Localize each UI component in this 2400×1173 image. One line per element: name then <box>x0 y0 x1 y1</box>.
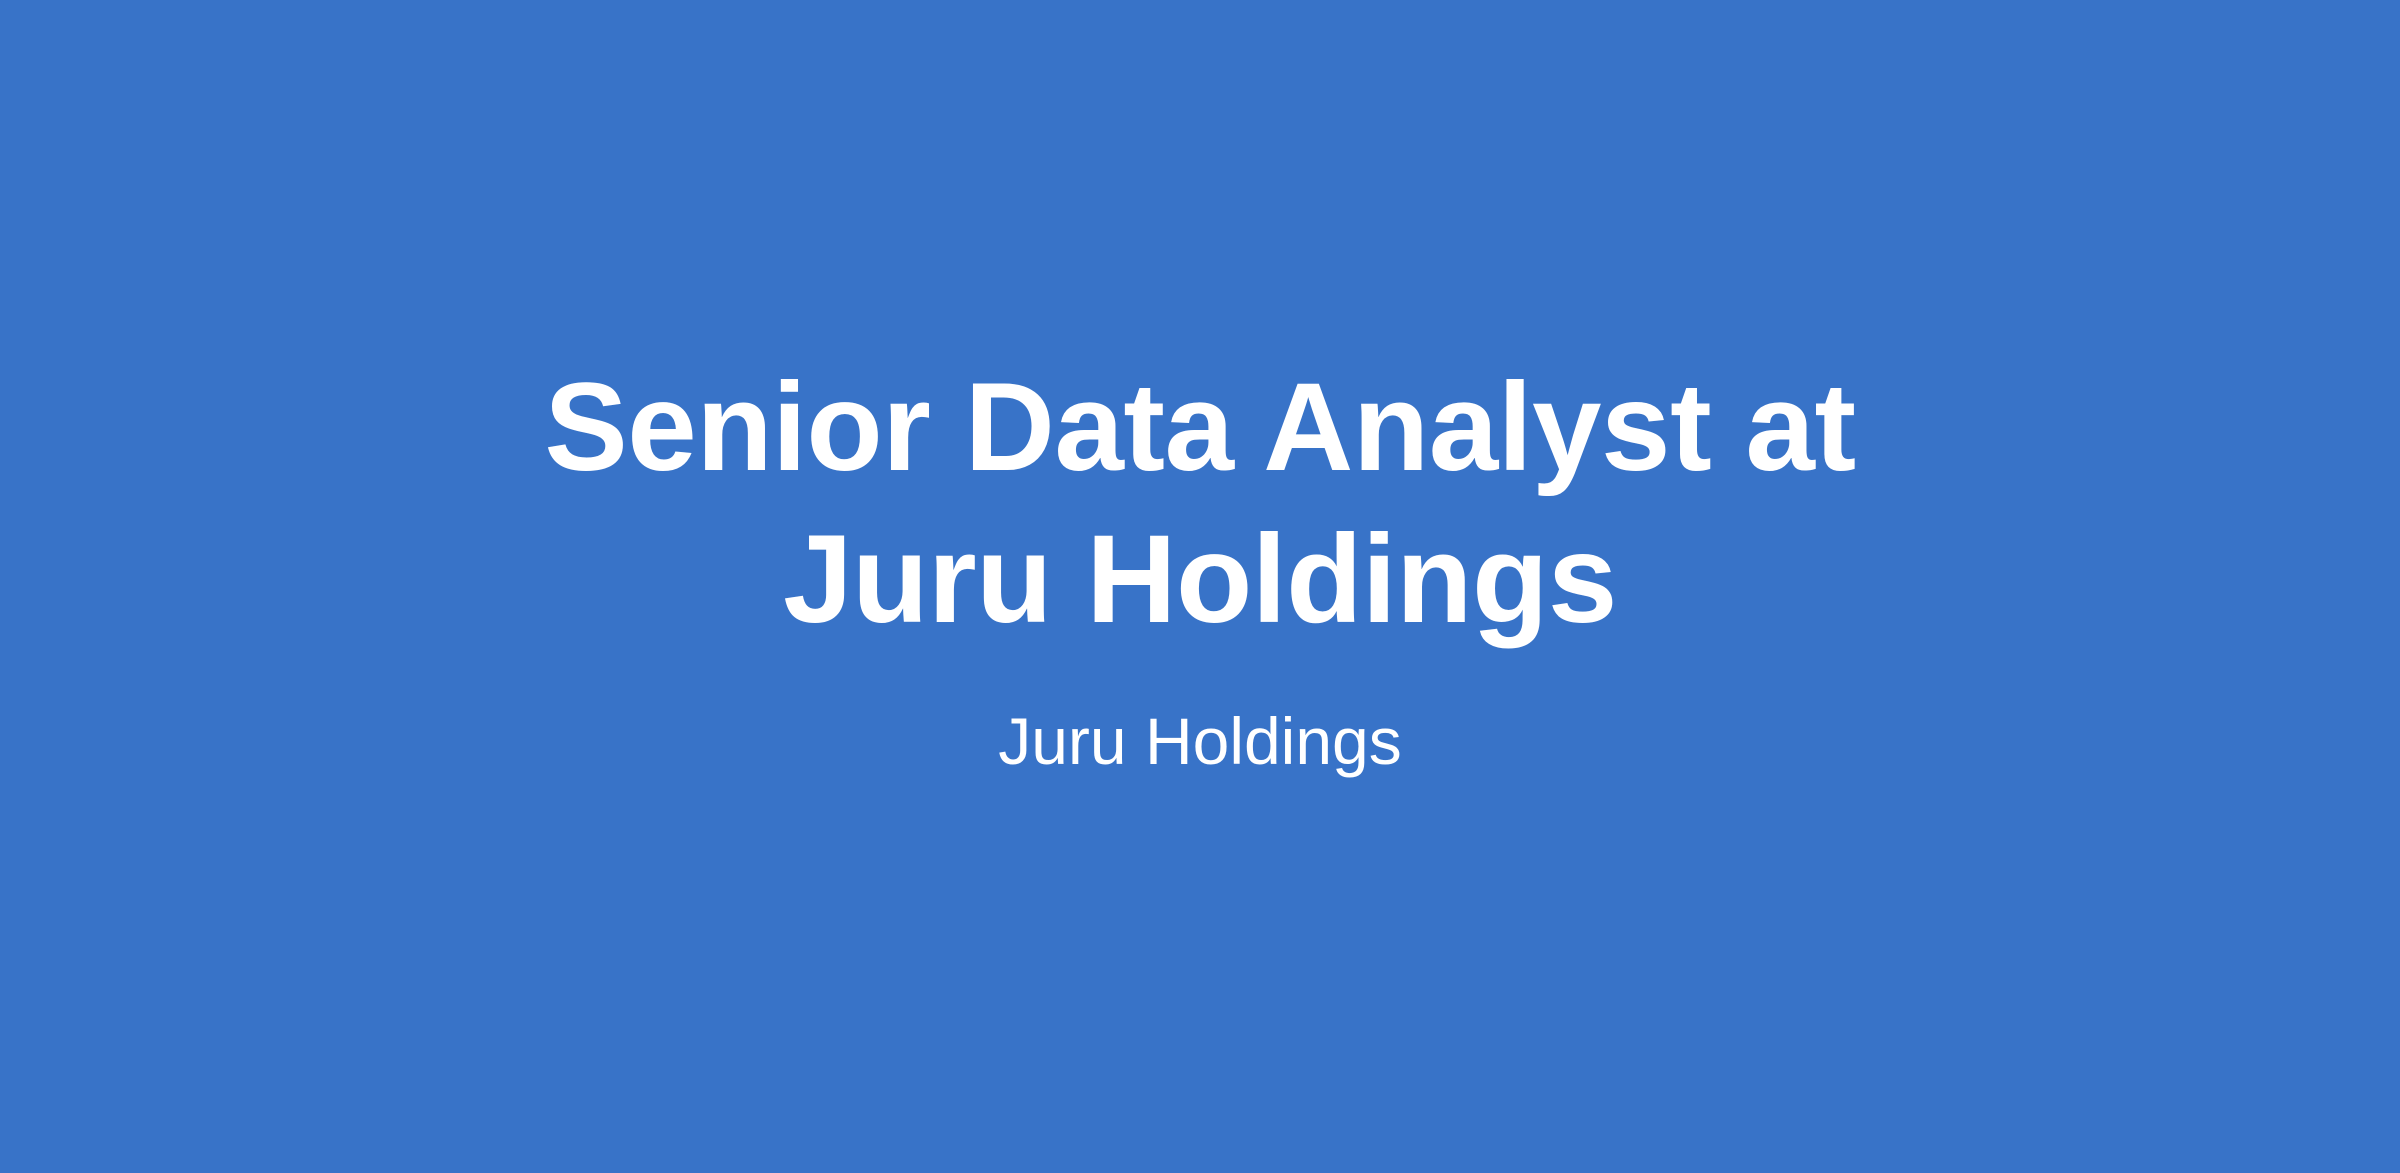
company-subtitle: Juru Holdings <box>998 702 1402 780</box>
page-title: Senior Data Analyst at Juru Holdings <box>470 352 1930 656</box>
job-title-slide: Senior Data Analyst at Juru Holdings Jur… <box>0 0 2400 1173</box>
hero-text-block: Senior Data Analyst at Juru Holdings Jur… <box>0 352 2400 780</box>
